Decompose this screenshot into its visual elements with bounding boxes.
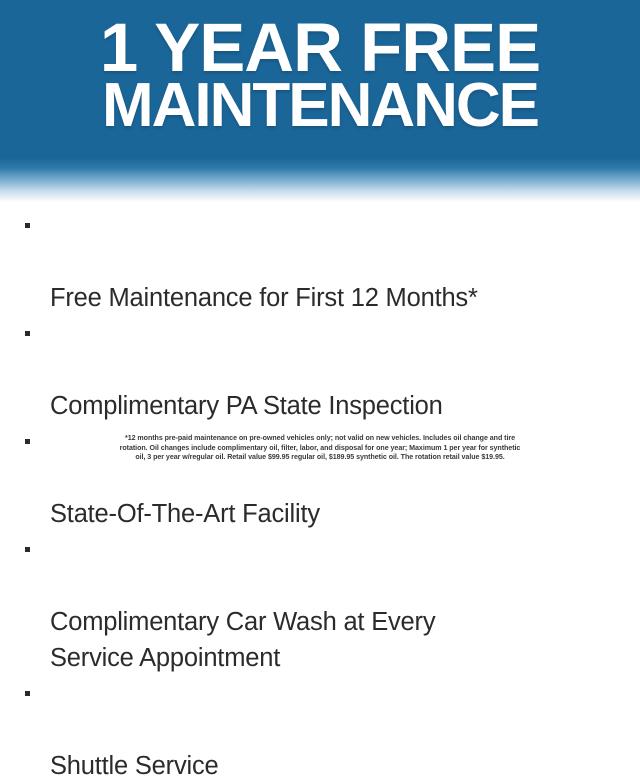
list-item-label: Shuttle Service xyxy=(50,752,219,780)
list-item-label: Complimentary PA State Inspection xyxy=(50,392,443,420)
banner-headline: 1 YEAR FREE MAINTENANCE xyxy=(0,0,640,136)
square-bullet-icon xyxy=(25,439,30,444)
list-item-label: Free Maintenance for First 12 Months* xyxy=(50,284,478,312)
list-item: Shuttle Service xyxy=(0,676,640,784)
promo-banner: 1 YEAR FREE MAINTENANCE xyxy=(0,0,640,202)
list-item: Free Maintenance for First 12 Months* xyxy=(0,208,640,316)
disclaimer-text: *12 months pre-paid maintenance on pre-o… xyxy=(32,434,608,463)
promo-advertisement: 1 YEAR FREE MAINTENANCE Free Maintenance… xyxy=(0,0,640,480)
list-item-label: Complimentary Car Wash at Every Service … xyxy=(50,608,435,672)
square-bullet-icon xyxy=(25,547,30,552)
offer-list: Free Maintenance for First 12 Months* Co… xyxy=(0,208,640,784)
banner-headline-line-1: 1 YEAR FREE xyxy=(0,14,640,82)
square-bullet-icon xyxy=(25,331,30,336)
disclaimer-line-3: oil, 3 per year w/regular oil. Retail va… xyxy=(32,453,608,463)
list-item-label: State-Of-The-Art Facility xyxy=(50,500,320,528)
list-item: Complimentary Car Wash at Every Service … xyxy=(0,532,640,676)
square-bullet-icon xyxy=(25,223,30,228)
disclaimer-line-2: rotation. Oil changes include compliment… xyxy=(32,444,608,454)
square-bullet-icon xyxy=(25,691,30,696)
disclaimer-line-1: *12 months pre-paid maintenance on pre-o… xyxy=(32,434,608,444)
list-item: Complimentary PA State Inspection xyxy=(0,316,640,424)
